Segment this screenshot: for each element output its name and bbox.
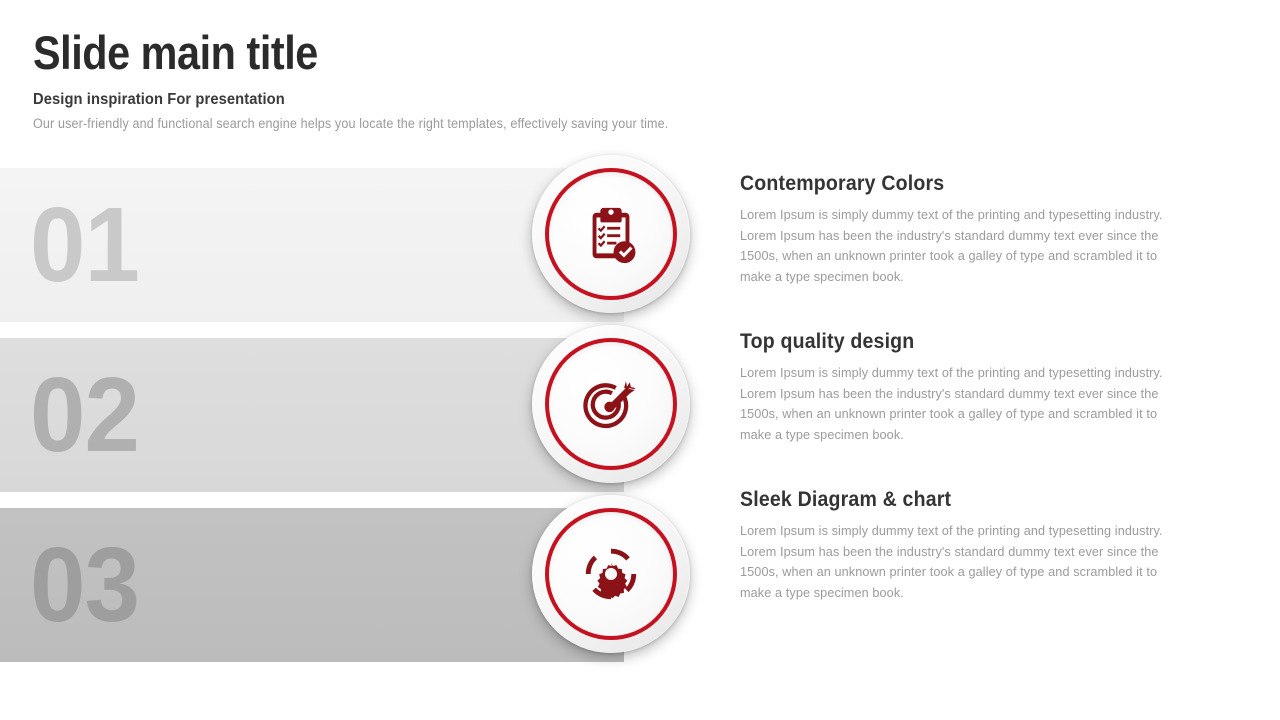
feature-list: Contemporary Colors Lorem Ipsum is simpl… [740, 172, 1200, 646]
slide-description: Our user-friendly and functional search … [33, 116, 740, 131]
step-band-01[interactable]: 01 [0, 168, 700, 322]
clipboard-check-icon [580, 203, 642, 265]
icon-medallion-02[interactable] [532, 325, 690, 483]
medallion-inner-ring-03 [545, 508, 677, 640]
step-number-02: 02 [30, 362, 139, 468]
feature-title-01: Contemporary Colors [740, 172, 1168, 196]
feature-item-01: Contemporary Colors Lorem Ipsum is simpl… [740, 172, 1200, 287]
feature-title-02: Top quality design [740, 330, 1168, 354]
step-band-02[interactable]: 02 [0, 338, 700, 492]
slide-header: Slide main title Design inspiration For … [33, 28, 793, 131]
gear-ring-icon [580, 543, 642, 605]
feature-body-03: Lorem Ipsum is simply dummy text of the … [740, 521, 1184, 603]
page-title: Slide main title [33, 28, 702, 77]
step-band-list: 01 02 [0, 168, 700, 678]
feature-body-01: Lorem Ipsum is simply dummy text of the … [740, 205, 1184, 287]
icon-medallion-03[interactable] [532, 495, 690, 653]
feature-body-02: Lorem Ipsum is simply dummy text of the … [740, 363, 1184, 445]
presentation-slide: Slide main title Design inspiration For … [0, 0, 1280, 720]
feature-title-03: Sleek Diagram & chart [740, 488, 1168, 512]
step-number-03: 03 [30, 532, 139, 638]
icon-medallion-01[interactable] [532, 155, 690, 313]
step-band-03[interactable]: 03 [0, 508, 700, 662]
feature-item-03: Sleek Diagram & chart Lorem Ipsum is sim… [740, 488, 1200, 603]
feature-item-02: Top quality design Lorem Ipsum is simply… [740, 330, 1200, 445]
slide-subtitle: Design inspiration For presentation [33, 91, 732, 109]
medallion-inner-ring-02 [545, 338, 677, 470]
target-dart-icon [580, 373, 642, 435]
step-number-01: 01 [30, 192, 139, 298]
medallion-inner-ring-01 [545, 168, 677, 300]
